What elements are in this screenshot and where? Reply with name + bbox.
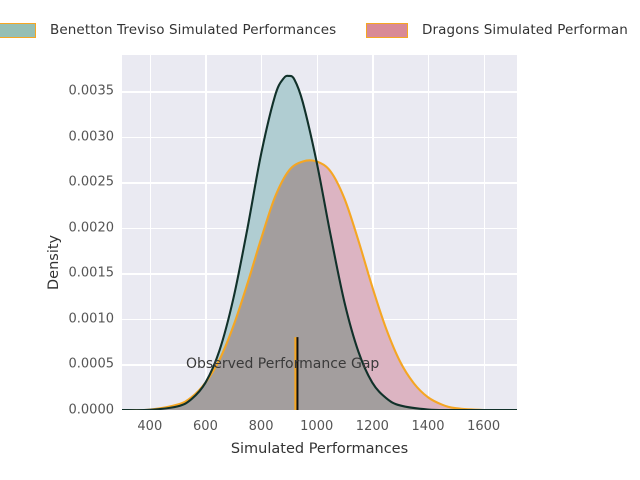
kde-figure: Benetton Treviso Simulated Performances …: [0, 0, 640, 480]
x-tick-label: 1000: [300, 419, 333, 434]
legend-entry-benetton-treviso[interactable]: Benetton Treviso Simulated Performances: [0, 18, 336, 42]
kde-overlap-region: [122, 160, 517, 410]
legend-label-benetton-treviso: Benetton Treviso Simulated Performances: [50, 22, 336, 38]
y-axis-label: Density: [46, 235, 62, 290]
chart-legend: Benetton Treviso Simulated Performances …: [0, 18, 640, 42]
x-tick-label: 1400: [411, 419, 444, 434]
legend-entry-dragons[interactable]: Dragons Simulated Performan: [366, 18, 628, 42]
gridline-horizontal: [122, 410, 517, 411]
y-tick-label: 0.0010: [114, 311, 160, 326]
x-tick-label: 400: [137, 419, 162, 434]
x-tick-label: 800: [249, 419, 274, 434]
legend-label-dragons: Dragons Simulated Performan: [422, 22, 628, 38]
legend-swatch-dragons: [366, 23, 408, 38]
y-tick-label: 0.0015: [114, 266, 160, 281]
y-tick-label: 0.0025: [114, 175, 160, 190]
annotation-observed-performance-gap: Observed Performance Gap: [186, 356, 379, 372]
x-tick-label: 1200: [356, 419, 389, 434]
x-tick-label: 600: [193, 419, 218, 434]
y-tick-label: 0.0030: [114, 129, 160, 144]
legend-swatch-benetton-treviso: [0, 23, 36, 38]
y-tick-label: 0.0020: [114, 220, 160, 235]
y-tick-label: 0.0005: [114, 357, 160, 372]
x-tick-label: 1600: [467, 419, 500, 434]
x-axis-label: Simulated Performances: [122, 441, 517, 457]
y-tick-label: 0.0000: [114, 403, 160, 418]
y-tick-label: 0.0035: [114, 84, 160, 99]
